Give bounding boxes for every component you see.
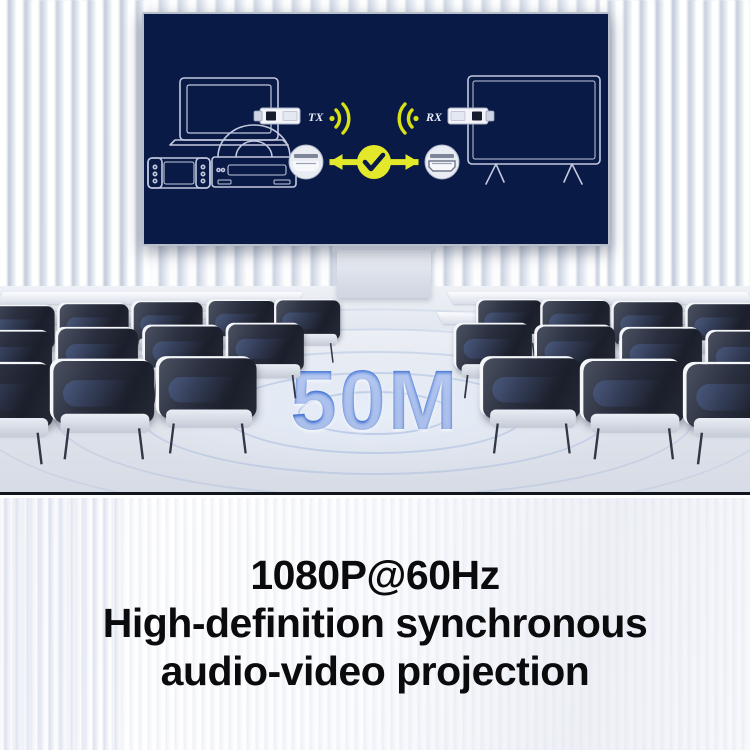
chair xyxy=(483,358,583,439)
caption-text-block: 1080P@60Hz High-definition synchronous a… xyxy=(0,498,750,750)
hdmi-port-tx-icon xyxy=(289,145,323,179)
rx-label: RX xyxy=(425,110,443,124)
wifi-waves-tx-icon xyxy=(329,104,348,133)
projection-screen: TX RX xyxy=(142,12,610,246)
chair xyxy=(0,364,55,449)
wifi-waves-rx-icon xyxy=(399,104,418,133)
caption-line-subhead: audio-video projection xyxy=(161,649,590,695)
check-circle-icon xyxy=(357,145,391,179)
caption-panel: 1080P@60Hz High-definition synchronous a… xyxy=(0,498,750,750)
chair xyxy=(53,361,156,445)
dvd-player-icon xyxy=(212,125,296,187)
chair xyxy=(583,361,686,445)
caption-line-resolution: 1080P@60Hz xyxy=(250,553,499,599)
tx-label: TX xyxy=(308,110,324,124)
usb-dongle-tx-icon xyxy=(254,108,300,124)
auditorium-photo: 50M xyxy=(0,0,750,495)
stage-curtain-right xyxy=(600,0,750,330)
product-feature-card: 50M xyxy=(0,0,750,750)
chair xyxy=(687,364,750,449)
connection-diagram: TX RX xyxy=(144,14,604,240)
lectern xyxy=(337,250,431,298)
stage-curtain-left xyxy=(0,0,150,330)
caption-line-headline: High-definition synchronous xyxy=(103,601,648,647)
tv-icon xyxy=(468,76,600,184)
usb-dongle-rx-icon xyxy=(448,108,494,124)
chair xyxy=(159,358,259,439)
hdmi-port-rx-icon xyxy=(425,145,459,179)
handheld-console-icon xyxy=(148,158,210,188)
